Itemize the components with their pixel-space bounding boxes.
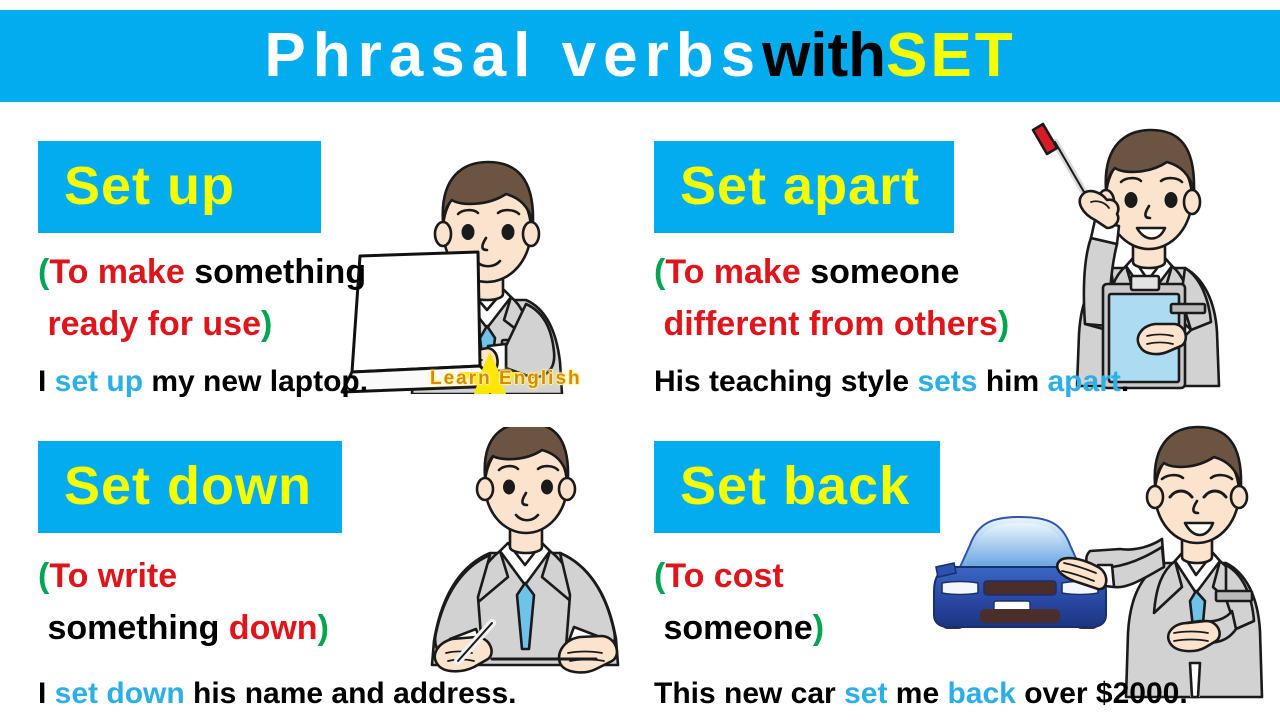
card-text-set-down: Set down (To write something down) I set… (38, 411, 638, 712)
card-set-back: Set back (To cost someone) This new car … (640, 411, 1280, 720)
card-text-set-back: Set back (To cost someone) This new car … (654, 411, 1254, 712)
card-definition-set-apart: (To make someone different from others) (654, 247, 1254, 350)
card-example-set-apart: His teaching style sets him apart. (654, 364, 1254, 400)
title-word-phrasal-verbs: Phrasal verbs (264, 21, 762, 90)
card-title-set-apart: Set apart (654, 141, 954, 233)
card-title-set-down: Set down (38, 441, 342, 533)
card-set-apart: Set apart (To make someone different fro… (640, 102, 1280, 411)
infographic-page: Phrasal verbswithSET (0, 0, 1280, 720)
card-set-down: Set down (To write something down) I set… (0, 411, 640, 720)
card-title-set-back: Set back (654, 441, 940, 533)
title-word-with: with (762, 21, 886, 90)
card-title-set-up: Set up (38, 141, 321, 233)
card-definition-set-back: (To cost someone) (654, 551, 1254, 654)
card-definition-set-up: (To make something ready for use) (38, 247, 638, 350)
card-text-set-apart: Set apart (To make someone different fro… (654, 102, 1254, 400)
card-example-set-down: I set down his name and address. (38, 676, 638, 712)
card-definition-set-down: (To write something down) (38, 551, 638, 654)
watermark-learn-english: Learn English (430, 368, 582, 390)
cards-grid: Set up (To make something ready for use)… (0, 102, 1280, 720)
header-banner: Phrasal verbswithSET (0, 10, 1280, 102)
card-set-up: Set up (To make something ready for use)… (0, 102, 640, 411)
page-title: Phrasal verbswithSET (264, 25, 1015, 87)
card-text-set-up: Set up (To make something ready for use)… (38, 102, 638, 400)
title-word-set: SET (886, 21, 1016, 90)
card-example-set-back: This new car set me back over $2000. (654, 676, 1254, 712)
